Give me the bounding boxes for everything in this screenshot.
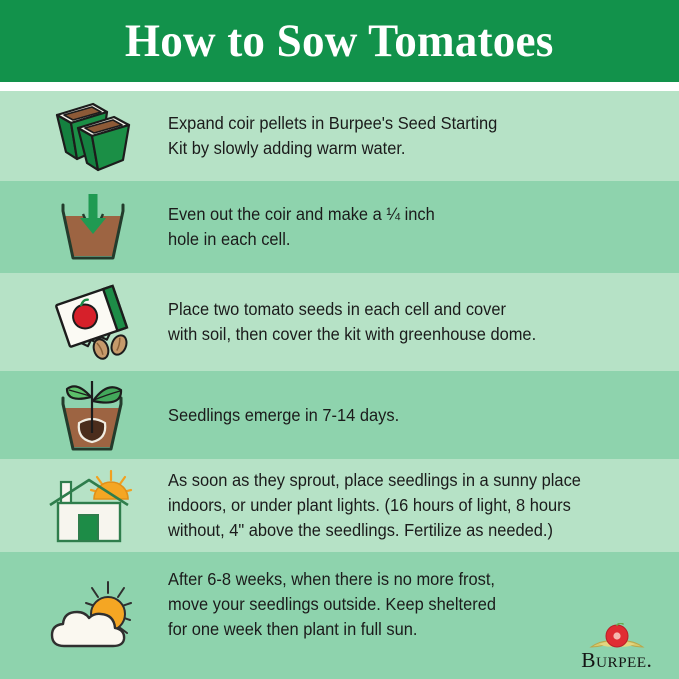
cell-with-hole-icon bbox=[50, 188, 136, 266]
step-2-text: Even out the coir and make a ¼ inch hole… bbox=[168, 202, 638, 252]
step-1-text-cell: Expand coir pellets in Burpee's Seed Sta… bbox=[168, 111, 679, 161]
step-2-text-cell: Even out the coir and make a ¼ inch hole… bbox=[168, 202, 679, 252]
burpee-wordmark: Burpee. bbox=[582, 650, 653, 671]
seed-packet-icon bbox=[46, 280, 140, 364]
step-3-icon-cell bbox=[18, 280, 168, 364]
seedling-icon bbox=[49, 375, 137, 455]
step-1-icon-cell bbox=[18, 99, 168, 173]
step-3-text: Place two tomato seeds in each cell and … bbox=[168, 297, 638, 347]
step-row-6: After 6-8 weeks, when there is no more f… bbox=[0, 552, 679, 679]
step-6-text: After 6-8 weeks, when there is no more f… bbox=[168, 567, 638, 642]
burpee-logo: Burpee. bbox=[569, 617, 665, 671]
step-5-icon-cell bbox=[18, 467, 168, 545]
step-4-text: Seedlings emerge in 7-14 days. bbox=[168, 403, 638, 428]
step-row-4: Seedlings emerge in 7-14 days. bbox=[0, 371, 679, 459]
header-divider bbox=[0, 82, 679, 91]
header-banner: How to Sow Tomatoes bbox=[0, 0, 679, 82]
step-row-1: Expand coir pellets in Burpee's Seed Sta… bbox=[0, 91, 679, 181]
step-row-3: Place two tomato seeds in each cell and … bbox=[0, 273, 679, 371]
step-row-2: Even out the coir and make a ¼ inch hole… bbox=[0, 181, 679, 273]
seed-starting-cells-icon bbox=[44, 99, 142, 173]
step-4-text-cell: Seedlings emerge in 7-14 days. bbox=[168, 403, 679, 428]
page-title: How to Sow Tomatoes bbox=[125, 18, 554, 65]
step-3-text-cell: Place two tomato seeds in each cell and … bbox=[168, 297, 679, 347]
step-6-icon-cell bbox=[18, 576, 168, 656]
cloud-with-sun-icon bbox=[44, 576, 142, 656]
step-1-text: Expand coir pellets in Burpee's Seed Sta… bbox=[168, 111, 638, 161]
step-4-icon-cell bbox=[18, 375, 168, 455]
step-row-5: As soon as they sprout, place seedlings … bbox=[0, 459, 679, 552]
infographic-root: How to Sow Tomatoes bbox=[0, 0, 679, 679]
house-with-sun-icon bbox=[45, 467, 141, 545]
step-5-text-cell: As soon as they sprout, place seedlings … bbox=[168, 468, 679, 543]
steps-list: Expand coir pellets in Burpee's Seed Sta… bbox=[0, 91, 679, 679]
step-2-icon-cell bbox=[18, 188, 168, 266]
step-5-text: As soon as they sprout, place seedlings … bbox=[168, 468, 638, 543]
